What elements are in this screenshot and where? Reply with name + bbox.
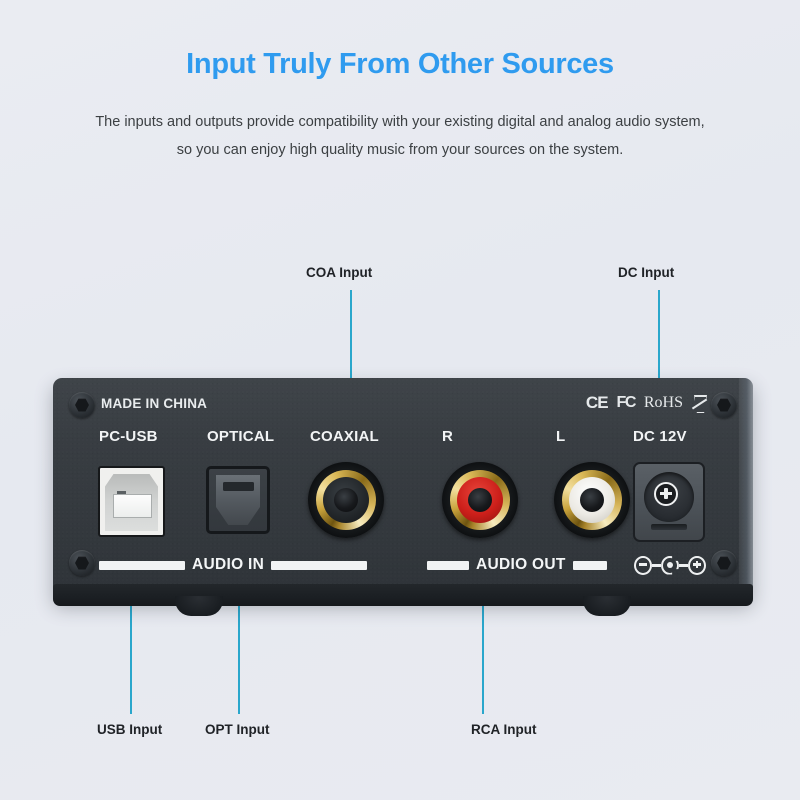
- port-label-rca-l: L: [556, 428, 565, 445]
- audio-out-label: AUDIO OUT: [476, 556, 566, 574]
- chassis-right-bevel: [739, 378, 753, 600]
- coaxial-input-jack[interactable]: [308, 462, 384, 538]
- made-in-china-text: MADE IN CHINA: [101, 396, 207, 411]
- port-label-pc-usb: PC-USB: [99, 428, 158, 445]
- rubber-foot-left: [175, 596, 223, 616]
- ce-mark-icon: CE: [586, 393, 608, 413]
- polarity-positive-icon: [688, 556, 706, 575]
- port-label-coaxial: COAXIAL: [310, 428, 379, 445]
- rca-right-center-hole: [468, 488, 492, 512]
- fcc-mark-icon: FC: [617, 394, 635, 412]
- callout-label-usb-input: USB Input: [97, 722, 162, 737]
- rca-left-center-hole: [580, 488, 604, 512]
- callout-label-coa-input: COA Input: [306, 265, 372, 280]
- dc-power-jack[interactable]: [633, 462, 705, 542]
- rca-output-jack-left[interactable]: [554, 462, 630, 538]
- polarity-center-icon: [661, 556, 679, 575]
- polarity-negative-icon: [634, 556, 652, 575]
- callout-label-opt-input: OPT Input: [205, 722, 270, 737]
- audio-dac-rear-panel: MADE IN CHINA CE FC RoHS PC-USB OPTICAL …: [53, 378, 753, 610]
- audio-out-rule-left: [427, 561, 469, 570]
- callout-label-dc-input: DC Input: [618, 265, 674, 280]
- dc-polarity-icon: [634, 554, 706, 576]
- hex-screw-top-left: [69, 392, 95, 418]
- rca-output-jack-right[interactable]: [442, 462, 518, 538]
- port-label-rca-r: R: [442, 428, 453, 445]
- dc-jack-notch: [651, 524, 687, 530]
- audio-in-label: AUDIO IN: [192, 556, 264, 574]
- port-label-optical: OPTICAL: [207, 428, 274, 445]
- usb-port-tongue: [113, 494, 152, 518]
- dc-jack-barrel: [654, 482, 678, 506]
- audio-in-rule-right: [271, 561, 367, 570]
- audio-in-rule-left: [99, 561, 185, 570]
- usb-b-port[interactable]: [98, 466, 165, 537]
- chassis-bottom-lip: [53, 584, 753, 606]
- dc-jack-center-pin: [664, 488, 668, 499]
- rohs-mark-icon: RoHS: [644, 394, 683, 412]
- port-label-dc-12v: DC 12V: [633, 428, 687, 445]
- weee-bin-icon: [692, 394, 707, 412]
- audio-in-band: AUDIO IN: [99, 556, 367, 574]
- callout-label-rca-input: RCA Input: [471, 722, 536, 737]
- audio-out-band: AUDIO OUT: [427, 556, 607, 574]
- hex-screw-bottom-left: [69, 550, 95, 576]
- page-headline: Input Truly From Other Sources: [0, 48, 800, 81]
- page-subcopy: The inputs and outputs provide compatibi…: [90, 108, 710, 164]
- coax-center-hole: [334, 488, 358, 512]
- hex-screw-bottom-right: [711, 550, 737, 576]
- optical-toslink-port[interactable]: [206, 466, 270, 534]
- hex-screw-top-right: [711, 392, 737, 418]
- rubber-foot-right: [583, 596, 631, 616]
- audio-out-rule-right: [573, 561, 607, 570]
- certification-marks: CE FC RoHS: [586, 393, 707, 413]
- toslink-slot: [223, 482, 254, 491]
